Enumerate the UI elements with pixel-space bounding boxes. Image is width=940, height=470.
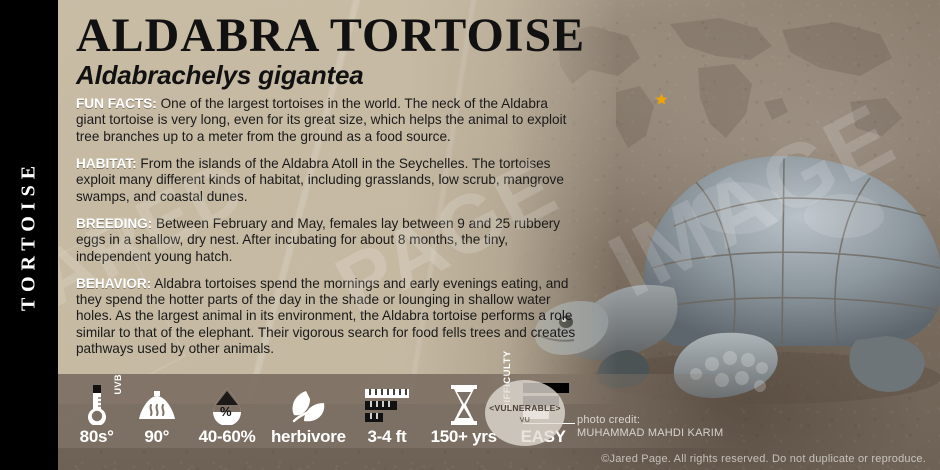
conservation-status: <VULNERABLE>	[489, 403, 561, 413]
location-star-icon	[655, 93, 668, 106]
svg-text:%: %	[220, 404, 232, 419]
section-habitat: HABITAT: From the islands of the Aldabra…	[76, 156, 576, 205]
section-label: HABITAT:	[76, 156, 137, 171]
lifespan-value: 150+ yrs	[431, 428, 497, 446]
thermometer-icon	[85, 385, 109, 425]
page-title: ALDABRA TORTOISE	[76, 12, 716, 59]
humidity-value: 40-60%	[199, 428, 256, 446]
status-badge: <VULNERABLE> VU	[485, 380, 565, 446]
basking-value: 90°	[144, 428, 169, 446]
care-item-humidity: % 40-60%	[188, 374, 266, 446]
care-item-temperature: UVB 80s°	[68, 374, 125, 446]
section-text: From the islands of the Aldabra Atoll in…	[76, 156, 564, 204]
category-sidebar: TORTOISE	[0, 0, 58, 470]
heat-lamp-icon	[137, 385, 177, 425]
care-item-basking: 90°	[125, 374, 188, 446]
humidity-droplet-icon: %	[210, 385, 244, 425]
copyright-bar: ©Jared Page. All rights reserved. Do not…	[0, 448, 940, 470]
category-label: TORTOISE	[0, 0, 58, 470]
conservation-code: VU	[520, 417, 531, 424]
hourglass-icon	[449, 385, 479, 425]
size-value: 3-4 ft	[368, 428, 407, 446]
photo-credit: photo credit: MUHAMMAD MAHDI KARIM	[577, 414, 723, 440]
diet-value: herbivore	[271, 428, 346, 446]
leaf-icon	[288, 385, 328, 425]
section-fun-facts: FUN FACTS: One of the largest tortoises …	[76, 96, 576, 145]
uvb-label: UVB	[113, 374, 123, 395]
ruler-icon	[363, 385, 411, 425]
temperature-value: 80s°	[80, 428, 114, 446]
care-item-diet: herbivore	[266, 374, 351, 446]
section-label: FUN FACTS:	[76, 96, 157, 111]
animal-info-sign: IMAGE ALDABRA TORTOISE Aldabrachelys gig…	[0, 0, 940, 470]
copyright-text: ©Jared Page. All rights reserved. Do not…	[601, 453, 926, 465]
scientific-name: Aldabrachelys gigantea	[76, 61, 716, 90]
section-breeding: BREEDING: Between February and May, fema…	[76, 216, 576, 265]
title-block: ALDABRA TORTOISE Aldabrachelys gigantea	[76, 12, 716, 90]
photo-credit-name: MUHAMMAD MAHDI KARIM	[577, 427, 723, 440]
photo-credit-label: photo credit:	[577, 414, 723, 427]
care-item-size: 3-4 ft	[351, 374, 423, 446]
